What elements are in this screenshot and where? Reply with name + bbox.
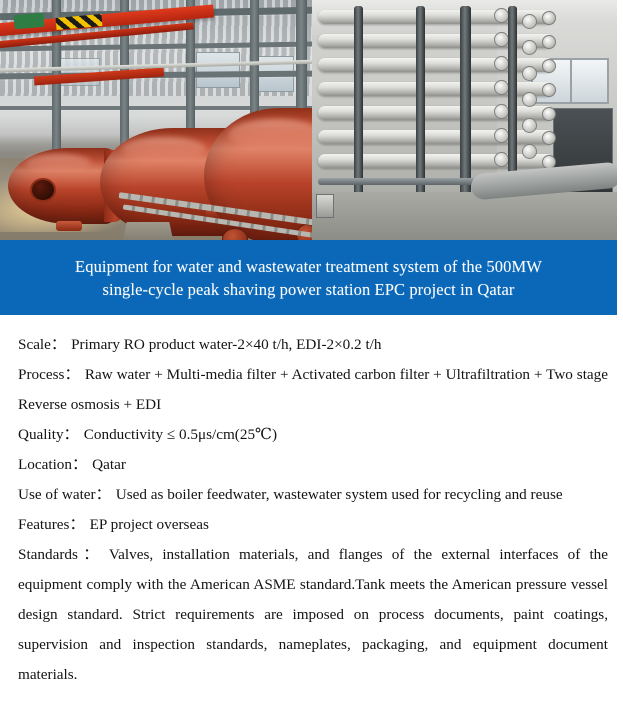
ro-vessel-end-cap [522, 92, 537, 107]
spec-label-standards: Standards： [18, 546, 104, 563]
ro-vessel-end-cap [494, 152, 509, 167]
ro-vessel-end-cap [494, 8, 509, 23]
spec-value-quality: Conductivity ≤ 0.5μs/cm(25℃) [84, 426, 277, 443]
spec-value-scale: Primary RO product water-2×40 t/h, EDI-2… [71, 336, 381, 353]
vessel-highlight [25, 154, 91, 171]
rack-vertical-pipe [354, 6, 363, 204]
vessel-manhole [30, 178, 56, 202]
spec-row-process: Process：Raw water + Multi-media filter +… [18, 360, 608, 420]
project-spec-page: Equipment for water and wastewater treat… [0, 0, 623, 719]
workshop-window [196, 52, 240, 88]
project-specification-list: Scale：Primary RO product water-2×40 t/h,… [18, 330, 608, 690]
vessel-highlight [228, 119, 312, 149]
rack-vertical-pipe [460, 6, 471, 206]
spec-value-use-of-water: Used as boiler feedwater, wastewater sys… [116, 486, 563, 503]
vessel-saddle-support [120, 222, 176, 240]
ro-vessel-end-cap [522, 144, 537, 159]
ro-vessel-end-cap [522, 118, 537, 133]
vessel-highlight [121, 137, 206, 161]
ro-vessel-end-cap [494, 104, 509, 119]
project-title: Equipment for water and wastewater treat… [75, 255, 542, 301]
spec-row-scale: Scale：Primary RO product water-2×40 t/h,… [18, 330, 608, 360]
ro-vessel-end-cap [522, 66, 537, 81]
spec-value-features: EP project overseas [90, 516, 209, 533]
crane-hoist-motor [13, 13, 44, 30]
spec-label-scale: Scale： [18, 336, 66, 353]
spec-label-features: Features： [18, 516, 85, 533]
spec-row-use-of-water: Use of water：Used as boiler feedwater, w… [18, 480, 608, 510]
project-photo-strip [0, 0, 617, 240]
vessel-nozzle [56, 221, 82, 231]
ro-vessel-end-cap [522, 40, 537, 55]
spec-row-features: Features：EP project overseas [18, 510, 608, 540]
spec-label-use-of-water: Use of water： [18, 486, 111, 503]
ro-vessel-end-cap [494, 128, 509, 143]
control-box [316, 194, 334, 218]
spec-value-process: Raw water + Multi-media filter + Activat… [18, 366, 608, 413]
ro-vessel-end-cap [522, 14, 537, 29]
vessel-flange [222, 228, 248, 240]
spec-label-location: Location： [18, 456, 87, 473]
ro-vessel-end-cap [494, 32, 509, 47]
spec-value-location: Qatar [92, 456, 126, 473]
pressure-vessel-workshop-photo [0, 0, 312, 240]
spec-label-process: Process： [18, 366, 80, 383]
spec-row-quality: Quality：Conductivity ≤ 0.5μs/cm(25℃) [18, 420, 608, 450]
project-title-line-1: Equipment for water and wastewater treat… [75, 257, 542, 276]
project-title-line-2: single-cycle peak shaving power station … [103, 280, 515, 299]
ro-vessel-end-cap [494, 80, 509, 95]
spec-row-location: Location：Qatar [18, 450, 608, 480]
spec-value-standards: Valves, installation materials, and flan… [18, 546, 608, 683]
steel-column [250, 0, 259, 120]
spec-row-standards: Standards：Valves, installation materials… [18, 540, 608, 690]
spec-label-quality: Quality： [18, 426, 79, 443]
reverse-osmosis-skid-photo [312, 0, 617, 240]
project-title-banner: Equipment for water and wastewater treat… [0, 240, 617, 315]
ro-vessel-end-cap [494, 56, 509, 71]
